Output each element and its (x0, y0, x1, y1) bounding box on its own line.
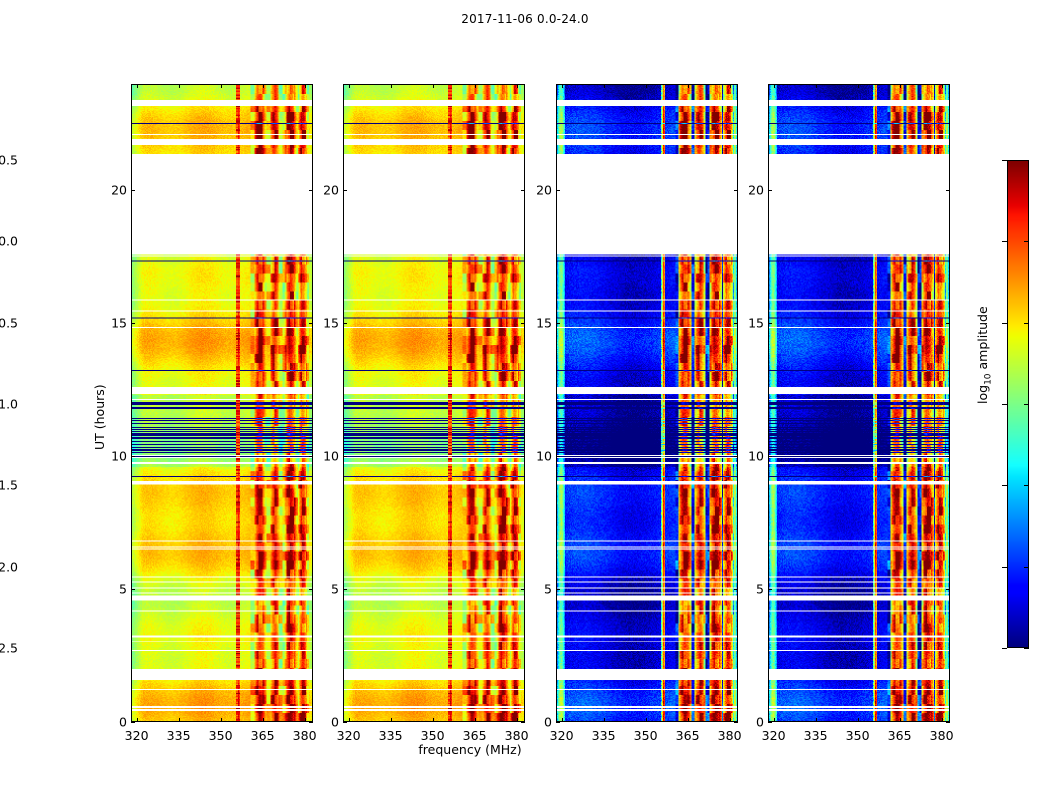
x-axis-tick-label: 320 (762, 728, 786, 743)
y-axis-tick-label: 10 (313, 449, 339, 464)
figure-suptitle: 2017-11-06 0.0-24.0 (0, 12, 1050, 26)
colorbar-tick-inner (1024, 404, 1029, 405)
heatmap-image-xx (132, 85, 312, 721)
y-axis-tick-label: 0 (526, 715, 552, 730)
y-axis-tick-label: 20 (738, 183, 764, 198)
colorbar-tick (1002, 323, 1007, 324)
colorbar-tick-label: −0.5 (0, 315, 18, 330)
colorbar-label-prefix: log (975, 385, 990, 404)
y-axis-tick-label: 20 (313, 183, 339, 198)
y-axis-tick-label: 10 (738, 449, 764, 464)
y-axis-tick (768, 456, 772, 457)
heatmap-yx (769, 85, 949, 721)
x-axis-tick-label: 365 (888, 728, 912, 743)
x-axis-tick (349, 84, 350, 88)
x-axis-tick-label: 380 (505, 728, 529, 743)
y-axis-label: UT (hours) (92, 384, 107, 450)
x-axis-tick-label: 320 (125, 728, 149, 743)
colorbar-tick-label: −1.0 (0, 397, 18, 412)
x-axis-tick-label: 350 (209, 728, 233, 743)
y-axis-tick (946, 323, 950, 324)
colorbar-tick (1002, 485, 1007, 486)
x-axis-tick-label: 365 (463, 728, 487, 743)
x-axis-tick (604, 84, 605, 88)
y-axis-tick (521, 456, 525, 457)
y-axis-tick-label: 5 (313, 582, 339, 597)
heatmap-image-yx (769, 85, 949, 721)
panel-xx: XX, V7=EA03 (131, 84, 313, 722)
y-axis-tick (131, 456, 135, 457)
y-axis-tick-label: 15 (313, 316, 339, 331)
x-axis-tick (900, 718, 901, 722)
x-axis-tick (349, 718, 350, 722)
x-axis-tick (517, 84, 518, 88)
y-axis-tick-label: 0 (101, 715, 127, 730)
x-axis-tick (774, 84, 775, 88)
x-axis-tick-label: 350 (634, 728, 658, 743)
y-axis-tick (768, 190, 772, 191)
colorbar-label-suffix: amplitude (975, 306, 990, 373)
panel-xy: XY, V7=EA03 (556, 84, 738, 722)
x-axis-tick-label: 380 (293, 728, 317, 743)
y-axis-tick-label: 20 (526, 183, 552, 198)
x-axis-tick (137, 84, 138, 88)
y-axis-tick (946, 190, 950, 191)
y-axis-tick (343, 589, 347, 590)
x-axis-tick (730, 718, 731, 722)
y-axis-tick (556, 589, 560, 590)
x-axis-tick (688, 718, 689, 722)
x-axis-tick (391, 718, 392, 722)
y-axis-tick-label: 15 (101, 316, 127, 331)
x-axis-tick-label: 350 (846, 728, 870, 743)
x-axis-tick (305, 718, 306, 722)
x-axis-tick (517, 718, 518, 722)
x-axis-tick-label: 320 (337, 728, 361, 743)
heatmap-yy (344, 85, 524, 721)
panel-yx: YX, V7=EA03 (768, 84, 950, 722)
colorbar-tick-label: 0.0 (0, 234, 18, 249)
colorbar-tick-label: −1.5 (0, 478, 18, 493)
y-axis-tick (343, 190, 347, 191)
x-axis-tick (433, 84, 434, 88)
x-axis-tick (816, 84, 817, 88)
y-axis-tick-label: 5 (101, 582, 127, 597)
x-axis-tick-label: 335 (167, 728, 191, 743)
y-axis-tick (556, 190, 560, 191)
y-axis-tick (556, 722, 560, 723)
heatmap-image-yy (344, 85, 524, 721)
x-axis-tick (646, 718, 647, 722)
x-axis-tick-label: 350 (421, 728, 445, 743)
colorbar-tick (1002, 241, 1007, 242)
x-axis-tick (475, 718, 476, 722)
x-axis-tick (433, 718, 434, 722)
x-axis-tick-label: 365 (251, 728, 275, 743)
colorbar-tick (1002, 404, 1007, 405)
x-axis-tick (646, 84, 647, 88)
y-axis-tick (521, 190, 525, 191)
x-axis-tick-label: 365 (676, 728, 700, 743)
x-axis-tick (179, 84, 180, 88)
x-axis-tick (942, 718, 943, 722)
x-axis-tick (730, 84, 731, 88)
x-axis-tick (604, 718, 605, 722)
colorbar-tick-inner (1024, 648, 1029, 649)
y-axis-tick-label: 10 (101, 449, 127, 464)
x-axis-tick (137, 718, 138, 722)
y-axis-tick-label: 20 (101, 183, 127, 198)
y-axis-tick (521, 589, 525, 590)
y-axis-tick-label: 0 (313, 715, 339, 730)
y-axis-tick (521, 722, 525, 723)
colorbar-tick-label: −2.0 (0, 559, 18, 574)
x-axis-tick-label: 335 (592, 728, 616, 743)
x-axis-tick (305, 84, 306, 88)
heatmap-xy (557, 85, 737, 721)
y-axis-tick (946, 456, 950, 457)
panel-yy: YY, V7=EA03 (343, 84, 525, 722)
y-axis-tick-label: 15 (738, 316, 764, 331)
y-axis-tick-label: 0 (738, 715, 764, 730)
y-axis-tick (556, 323, 560, 324)
y-axis-tick-label: 5 (738, 582, 764, 597)
y-axis-tick (343, 456, 347, 457)
y-axis-tick (521, 323, 525, 324)
x-axis-tick (475, 84, 476, 88)
x-axis-tick (263, 84, 264, 88)
x-axis-tick (688, 84, 689, 88)
x-axis-tick (816, 718, 817, 722)
x-axis-tick (221, 84, 222, 88)
y-axis-tick (556, 456, 560, 457)
x-axis-tick (221, 718, 222, 722)
colorbar-tick-inner (1024, 323, 1029, 324)
colorbar-tick-inner (1024, 241, 1029, 242)
x-axis-tick (858, 718, 859, 722)
colorbar-tick-inner (1024, 485, 1029, 486)
y-axis-tick-label: 15 (526, 316, 552, 331)
colorbar-label-sub: 10 (984, 373, 994, 384)
y-axis-tick (946, 589, 950, 590)
x-axis-tick (391, 84, 392, 88)
colorbar-tick-inner (1024, 160, 1029, 161)
x-axis-tick (942, 84, 943, 88)
x-axis-tick-label: 335 (379, 728, 403, 743)
y-axis-tick (131, 589, 135, 590)
x-axis-tick (562, 84, 563, 88)
colorbar-tick (1002, 567, 1007, 568)
y-axis-tick (343, 323, 347, 324)
colorbar-tick-label: 0.5 (0, 153, 18, 168)
x-axis-tick-label: 380 (930, 728, 954, 743)
colorbar-tick-label: −2.5 (0, 641, 18, 656)
y-axis-tick (131, 323, 135, 324)
heatmap-image-xy (557, 85, 737, 721)
y-axis-tick (131, 722, 135, 723)
y-axis-tick (946, 722, 950, 723)
heatmap-xx (132, 85, 312, 721)
colorbar-label: log10 amplitude (975, 306, 994, 404)
x-axis-label: frequency (MHz) (330, 742, 610, 757)
x-axis-tick-label: 320 (550, 728, 574, 743)
y-axis-tick (131, 190, 135, 191)
x-axis-tick (179, 718, 180, 722)
y-axis-tick-label: 5 (526, 582, 552, 597)
colorbar-tick (1002, 648, 1007, 649)
colorbar-tick (1002, 160, 1007, 161)
x-axis-tick (774, 718, 775, 722)
y-axis-tick-label: 10 (526, 449, 552, 464)
colorbar-tick-inner (1024, 567, 1029, 568)
x-axis-tick-label: 335 (804, 728, 828, 743)
x-axis-tick (263, 718, 264, 722)
y-axis-tick (768, 722, 772, 723)
y-axis-tick (343, 722, 347, 723)
y-axis-tick (768, 323, 772, 324)
figure-canvas: 2017-11-06 0.0-24.0 XX, V7=EA03 YY, V7=E… (0, 0, 1050, 800)
y-axis-tick (768, 589, 772, 590)
x-axis-tick (562, 718, 563, 722)
x-axis-tick-label: 380 (718, 728, 742, 743)
x-axis-tick (900, 84, 901, 88)
x-axis-tick (858, 84, 859, 88)
